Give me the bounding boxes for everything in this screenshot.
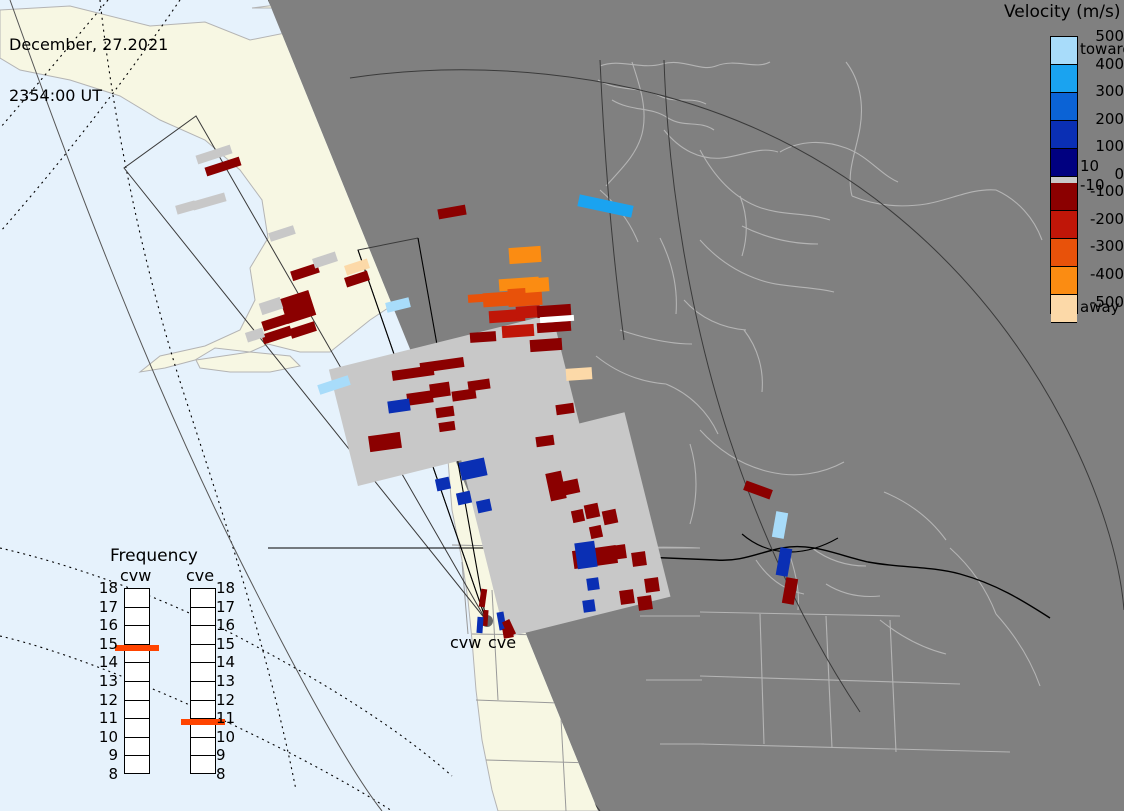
frequency-scale-tick [191,682,215,701]
velocity-cell [502,324,535,338]
velocity-cell [429,382,451,399]
frequency-scale-tick [191,663,215,682]
frequency-axis-label: 11 [96,709,118,727]
frequency-scale-tick [125,756,149,775]
velocity-cell [508,246,541,264]
velocity-cell [644,577,660,593]
frequency-scale-tick [125,682,149,701]
time-label: 2354:00 UT [9,87,168,104]
frequency-scale-tick [125,719,149,738]
velocity-cell [566,367,593,381]
frequency-axis-label: 14 [96,653,118,671]
frequency-scale-tick [191,738,215,757]
colorbar-title: Velocity (m/s) [1004,2,1121,22]
frequency-scale-cvw [124,588,150,774]
frequency-scale-tick [191,756,215,775]
frequency-scale-tick [125,626,149,645]
frequency-axis-label: 16 [96,616,118,634]
velocity-cell [476,617,483,633]
frequency-axis-label: 16 [216,616,235,634]
frequency-axis-label: 9 [216,746,226,764]
colorbar-tick: -300 [1062,237,1124,255]
frequency-axis-label: 12 [216,691,235,709]
frequency-axis-label: 10 [216,728,235,746]
frequency-axis-label: 10 [96,728,118,746]
frequency-axis-label: 18 [96,579,118,597]
frequency-scale-tick [191,645,215,664]
colorbar-away-label: away [1080,298,1120,316]
frequency-scale-tick [191,608,215,627]
frequency-scale-tick [191,701,215,720]
frequency-axis-label: 11 [216,709,235,727]
frequency-axis-label: 8 [96,765,118,783]
frequency-axis-label: 12 [96,691,118,709]
velocity-cell [611,544,627,560]
frequency-scale-tick [125,608,149,627]
site-label-cve: cve [488,633,516,652]
velocity-cell [582,599,596,613]
frequency-scale-tick [125,663,149,682]
frequency-marker-cvw [115,645,159,651]
velocity-cell [470,331,497,343]
colorbar-tick: -200 [1062,210,1124,228]
frequency-legend: Frequency cvw18171615141312111098cve1817… [82,546,252,786]
colorbar-tick: -400 [1062,265,1124,283]
frequency-scale-tick [125,701,149,720]
frequency-axis-label: 14 [216,653,235,671]
colorbar-tick: 200 [1062,110,1124,128]
velocity-cell [631,551,647,567]
frequency-radar-name: cve [186,566,214,585]
velocity-cell [589,525,603,539]
colorbar-tick: 100 [1062,137,1124,155]
timestamp-block: December, 27.2021 2354:00 UT [9,2,168,138]
velocity-cell [574,541,597,570]
colorbar-toward-label: toward [1080,40,1124,58]
site-label-cvw: cvw [450,633,481,652]
frequency-axis-label: 9 [96,746,118,764]
frequency-scale-cve [190,588,216,774]
velocity-cell [619,589,635,605]
frequency-axis-label: 15 [96,635,118,653]
frequency-title: Frequency [110,546,198,566]
frequency-axis-label: 17 [96,598,118,616]
frequency-axis-label: 17 [216,598,235,616]
frequency-scale-tick [125,589,149,608]
colorbar-inner-high-label: 10 [1080,157,1099,175]
frequency-axis-label: 13 [216,672,235,690]
velocity-cell [602,509,619,526]
frequency-axis-label: 18 [216,579,235,597]
velocity-cell [530,338,563,352]
velocity-cell [586,577,600,591]
frequency-axis-label: 15 [216,635,235,653]
colorbar-tick: 300 [1062,82,1124,100]
velocity-cell [516,305,541,319]
frequency-axis-label: 13 [96,672,118,690]
velocity-cell [637,595,653,611]
velocity-colorbar: Velocity (m/s) 5004003002001000-100-200-… [976,0,1124,340]
colorbar-inner-low-label: -10 [1080,176,1105,194]
frequency-axis-label: 8 [216,765,226,783]
frequency-scale-tick [125,738,149,757]
date-label: December, 27.2021 [9,36,168,53]
radar-map-figure: December, 27.2021 2354:00 UT Velocity (m… [0,0,1124,811]
velocity-cell [525,277,550,293]
frequency-scale-tick [191,589,215,608]
frequency-radar-name: cvw [120,566,151,585]
velocity-cell [584,503,601,520]
frequency-scale-tick [191,626,215,645]
velocity-cell [571,509,585,523]
